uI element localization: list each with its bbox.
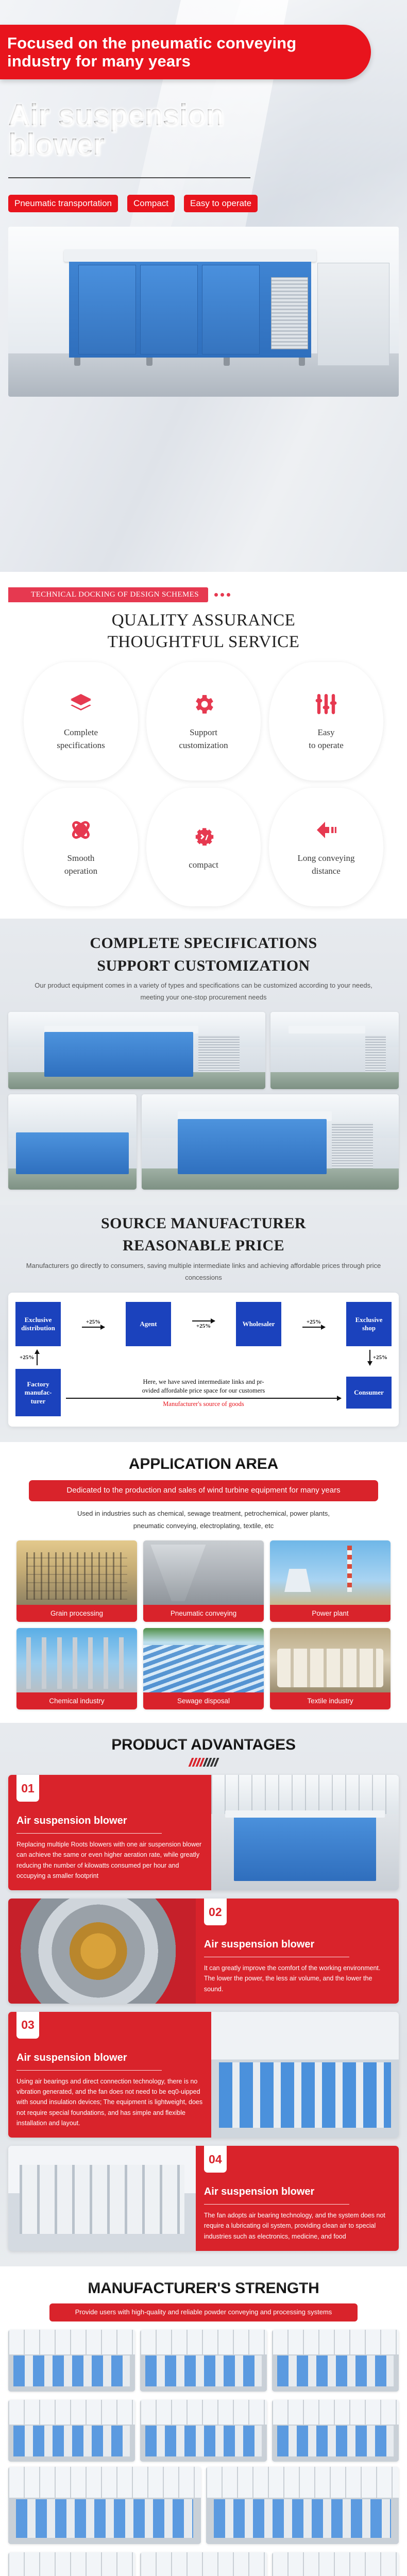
machine-door-3 [202,265,260,354]
flow-node-exclusive-shop: Exclusive shop [346,1302,392,1346]
machine-legs [74,358,306,366]
strength-heading: MANUFACTURER'S STRENGTH [8,2280,399,2297]
page-title: Air suspension blower [8,101,224,160]
advantage-divider [16,1833,162,1834]
technical-docking-label: TECHNICAL DOCKING OF DESIGN SCHEMES [8,587,208,602]
flow-pct-right-down: +25% [373,1354,387,1361]
specs-photo-2 [270,1012,399,1089]
advantage-number-04: 04 [204,2146,227,2173]
strength-photo-5 [140,2400,267,2462]
feature-card-easy-to-operate: Easy to operate [269,662,383,781]
flow-middle-arrows-row: +25% +25% [15,1346,392,1369]
advantage-text-panel: 01 Air suspension blower Replacing multi… [8,1775,211,1890]
hero-title-line-2: blower [8,128,105,161]
application-card-grid: Grain processing Pneumatic conveying Pow… [8,1532,399,1714]
advantage-divider [204,1957,349,1957]
arrow-left-icon [313,817,340,843]
application-subtitle-line-1: Used in industries such as chemical, sew… [15,1507,392,1520]
machine-leg-3 [224,358,230,366]
photo-machine-body [44,1032,193,1077]
strength-photo-7 [8,2467,201,2544]
machine-body [69,262,311,358]
flow-arrow-2: +25% [171,1319,236,1329]
application-card-pneumatic-conveying[interactable]: Pneumatic conveying [143,1540,264,1622]
slash-divider-icon [8,1758,399,1767]
advantage-number-01: 01 [16,1775,39,1802]
source-heading: SOURCE MANUFACTURER REASONABLE PRICE [8,1212,399,1257]
photo-machine-body [178,1119,327,1174]
strength-banner: Provide users with high-quality and reli… [49,2303,358,2321]
flow-message-line-2: ovided affordable price space for our cu… [66,1386,341,1395]
photo-hall-bg [8,1094,137,1138]
hero-tag-1[interactable]: Compact [127,195,175,212]
factory-machine [234,1817,377,1881]
feature-label-1: Support customization [179,726,228,752]
application-card-textile-industry[interactable]: Textile industry [270,1628,391,1709]
product-advantages-section: PRODUCT ADVANTAGES 01 Air suspension blo… [0,1723,407,2266]
lab-scene [8,2146,196,2251]
advantage-image-02 [8,1899,196,2004]
advantages-heading: PRODUCT ADVANTAGES [8,1736,399,1754]
application-subtitle-line-2: pneumatic conveying, electroplating, tex… [15,1520,392,1532]
source-heading-line-1: SOURCE MANUFACTURER [8,1212,399,1235]
advantage-image-01 [211,1775,399,1890]
strength-photo-row-4 [8,2552,399,2576]
flow-node-exclusive-distribution: Exclusive distribution [15,1302,61,1346]
feature-card-compact: compact [146,788,261,906]
arrow-down-icon [369,1350,370,1365]
photo-side-cabinet [317,263,389,366]
arrow-right-icon [302,1327,325,1328]
machine-leg-1 [74,358,80,366]
specs-photo-4 [142,1094,399,1190]
machine-vent-grille [271,277,308,349]
photo-machine-row [16,1132,129,1174]
arrow-up-icon [37,1350,38,1365]
quality-heading-line-2: THOUGHTFUL SERVICE [8,631,399,653]
application-image [16,1540,137,1605]
advantage-row-01: 01 Air suspension blower Replacing multi… [8,1775,399,1890]
quality-assurance-section: TECHNICAL DOCKING OF DESIGN SCHEMES QUAL… [0,587,407,919]
photo-machine-cap [289,1026,366,1033]
advantage-text-panel: 03 Air suspension blower Using air beari… [8,2012,211,2138]
feature-card-complete-specifications: Complete specifications [24,662,138,781]
advantage-title-03: Air suspension blower [16,2052,203,2064]
three-dots-icon [214,593,230,597]
advantage-divider [204,2204,349,2205]
advantage-description-02: It can greatly improve the comfort of th… [204,1963,391,1994]
landing-page: Focused on the pneumatic conveying indus… [0,0,407,2576]
application-image [270,1628,391,1692]
application-card-grain-processing[interactable]: Grain processing [16,1540,137,1622]
machine-door-1 [78,265,136,354]
source-subtitle: Manufacturers go directly to consumers, … [8,1260,399,1284]
strength-photo-11 [272,2552,399,2576]
advantage-text-panel: 04 Air suspension blower The fan adopts … [196,2146,399,2251]
specs-subtitle: Our product equipment comes in a variety… [8,980,399,1004]
quality-heading: QUALITY ASSURANCE THOUGHTFUL SERVICE [8,609,399,653]
flow-message-red: Manufacturer's source of goods [66,1400,341,1408]
flow-bottom-row: Factory manufac-turer Here, we have save… [15,1369,392,1416]
strength-photo-4 [8,2400,135,2462]
strength-photo-2 [140,2330,267,2392]
quality-heading-line-1: QUALITY ASSURANCE [8,609,399,631]
warehouse-scene [211,2012,399,2138]
specs-heading-line-2: SUPPORT CUSTOMIZATION [8,955,399,977]
specs-heading: COMPLETE SPECIFICATIONS SUPPORT CUSTOMIZ… [8,932,399,977]
source-manufacturer-section: SOURCE MANUFACTURER REASONABLE PRICE Man… [0,1205,407,1443]
advantage-title-01: Air suspension blower [16,1815,203,1827]
specs-photo-3 [8,1094,137,1190]
flow-top-row: Exclusive distribution +25% Agent +25% W… [15,1302,392,1346]
advantage-text-panel: 02 Air suspension blower It can greatly … [196,1899,399,2004]
feature-card-smooth-operation: Smooth operation [24,788,138,906]
hero-tag-2[interactable]: Easy to operate [184,195,258,212]
flow-node-agent: Agent [126,1302,171,1346]
flow-pct-1: +25% [86,1319,100,1325]
machine-leg-2 [146,358,152,366]
application-heading: APPLICATION AREA [8,1455,399,1473]
application-image [143,1540,264,1605]
advantage-title-04: Air suspension blower [204,2186,391,2198]
hero-ribbon-text: Focused on the pneumatic conveying indus… [7,34,350,71]
gear-icon [190,691,217,718]
application-caption-0: Grain processing [16,1605,137,1622]
specs-photo-1 [8,1012,265,1089]
advantage-image-04 [8,2146,196,2251]
application-caption-3: Chemical industry [16,1692,137,1709]
flow-middle-message: Here, we have saved intermediate links a… [61,1378,346,1408]
manufacturer-strength-section: MANUFACTURER'S STRENGTH Provide users wi… [0,2266,407,2576]
feature-label-0: Complete specifications [57,726,105,752]
strength-photo-1 [8,2330,135,2392]
strength-photo-row-2 [8,2400,399,2462]
flow-left-up-group: +25% [20,1350,38,1365]
technical-docking-banner: TECHNICAL DOCKING OF DESIGN SCHEMES [8,587,399,602]
feature-card-long-conveying-distance: Long conveying distance [269,788,383,906]
photo-machine-vent [365,1035,386,1072]
feature-label-5: Long conveying distance [298,852,355,878]
hero-divider [8,177,250,178]
application-card-chemical-industry[interactable]: Chemical industry [16,1628,137,1709]
strength-photo-9 [8,2552,135,2576]
application-card-sewage-disposal[interactable]: Sewage disposal [143,1628,264,1709]
hero-section: Focused on the pneumatic conveying indus… [0,0,407,572]
advantage-image-03 [211,2012,399,2138]
application-subtitle: Used in industries such as chemical, sew… [8,1507,399,1532]
advantage-divider [16,2070,162,2071]
strength-photo-row-1 [8,2330,399,2392]
atom-icon [67,817,94,843]
flow-node-wholesaler: Wholesaler [236,1302,281,1346]
strength-photo-8 [206,2467,399,2544]
application-caption-2: Power plant [270,1605,391,1622]
hero-ribbon: Focused on the pneumatic conveying indus… [0,25,371,79]
feature-card-support-customization: Support customization [146,662,261,781]
feature-label-4: compact [189,858,218,872]
flow-arrow-3: +25% [281,1319,346,1329]
advantage-number-03: 03 [16,2012,39,2039]
application-image [143,1628,264,1692]
flow-pct-left-up: +25% [20,1354,34,1361]
advantage-description-01: Replacing multiple Roots blowers with on… [16,1839,203,1881]
blower-machine-illustration [69,249,311,371]
sliders-icon [313,691,340,718]
flow-right-down-group: +25% [369,1350,387,1365]
specs-photo-row-1 [8,1012,399,1089]
source-heading-line-2: REASONABLE PRICE [8,1234,399,1257]
hero-tag-0[interactable]: Pneumatic transportation [8,195,118,212]
feature-label-3: Smooth operation [64,852,97,878]
advantage-title-02: Air suspension blower [204,1939,391,1951]
advantage-row-03: 03 Air suspension blower Using air beari… [8,2012,399,2138]
photo-machine-vent [332,1123,373,1168]
photo-machine-vent [198,1035,240,1072]
flow-arrow-1: +25% [61,1319,126,1329]
specs-heading-line-1: COMPLETE SPECIFICATIONS [8,932,399,955]
flow-pct-3: +25% [307,1319,321,1325]
quality-feature-grid: Complete specifications Support customiz… [8,653,399,919]
flow-pct-2: +25% [196,1323,211,1329]
strength-photo-3 [272,2330,399,2392]
price-flow-diagram: Exclusive distribution +25% Agent +25% W… [8,1293,399,1427]
advantage-row-04: 04 Air suspension blower The fan adopts … [8,2146,399,2251]
arrow-right-icon [82,1327,105,1328]
application-image [270,1540,391,1605]
application-banner: Dedicated to the production and sales of… [29,1480,378,1501]
application-caption-5: Textile industry [270,1692,391,1709]
machine-top-cap [64,249,316,262]
strength-photo-10 [140,2552,267,2576]
advantage-description-03: Using air bearings and direct connection… [16,2076,203,2128]
strength-photo-row-3 [8,2467,399,2544]
advantage-row-02: 02 Air suspension blower It can greatly … [8,1899,399,2004]
application-card-power-plant[interactable]: Power plant [270,1540,391,1622]
specs-photo-row-2 [8,1094,399,1190]
hero-title-line-1: Air suspension [8,98,224,132]
rotor-closeup [8,1899,196,2004]
flow-node-consumer: Consumer [346,1377,392,1409]
application-image [16,1628,137,1692]
feature-label-2: Easy to operate [309,726,344,752]
machine-door-2 [140,265,198,354]
advantage-description-04: The fan adopts air bearing technology, a… [204,2210,391,2242]
layers-icon [67,691,94,718]
machine-leg-4 [299,358,305,366]
complete-specifications-section: COMPLETE SPECIFICATIONS SUPPORT CUSTOMIZ… [0,919,407,1205]
arrow-right-icon [192,1320,215,1321]
hero-tag-list: Pneumatic transportation Compact Easy to… [8,195,258,212]
flow-message-line-1: Here, we have saved intermediate links a… [66,1378,341,1386]
advantage-number-02: 02 [204,1899,227,1925]
factory-roof [211,1775,399,1814]
flow-node-factory-manufacturer: Factory manufac-turer [15,1369,61,1416]
arrow-right-long-icon [66,1398,341,1399]
application-caption-4: Sewage disposal [143,1692,264,1709]
application-caption-1: Pneumatic conveying [143,1605,264,1622]
photo-floor-bg [270,1072,399,1089]
code-gear-icon [190,823,217,850]
hero-product-photo [8,227,399,397]
strength-photo-6 [272,2400,399,2462]
application-area-section: APPLICATION AREA Dedicated to the produc… [0,1442,407,1723]
